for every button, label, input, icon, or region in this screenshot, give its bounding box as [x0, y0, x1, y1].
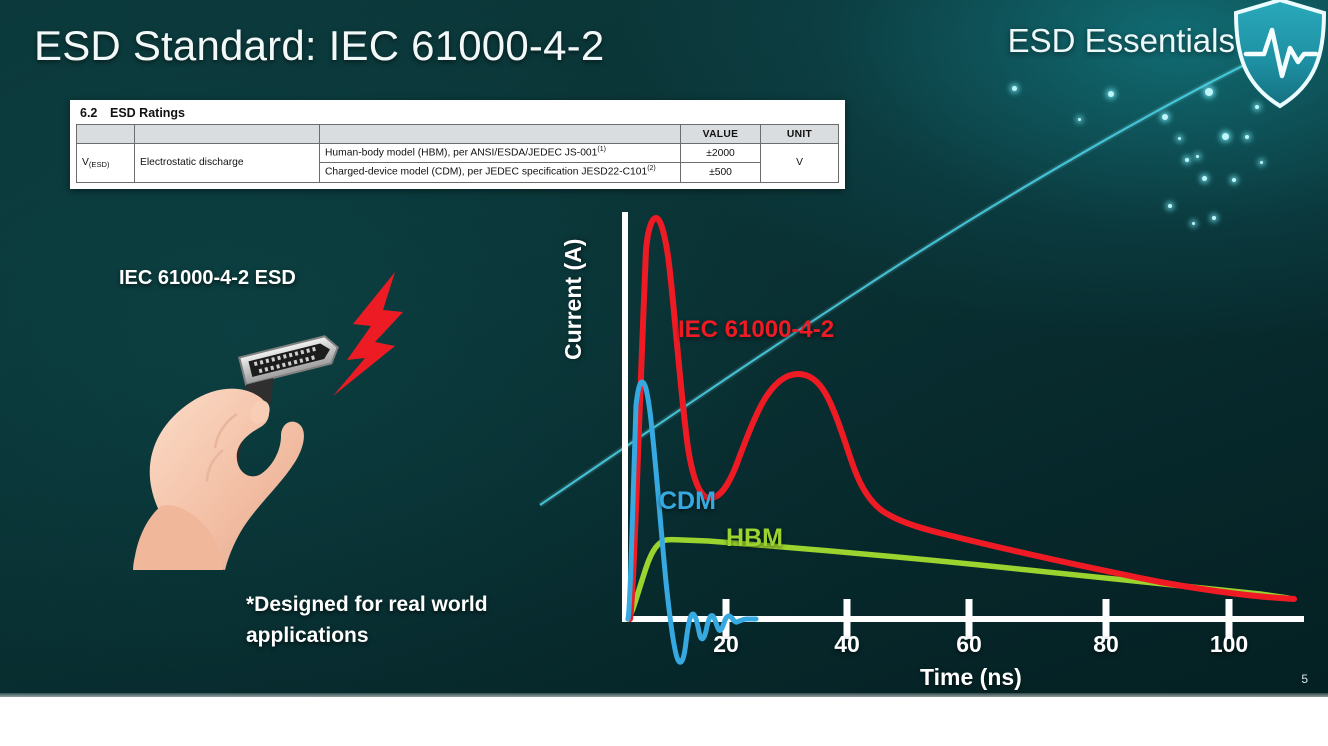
series-iec-curve	[630, 218, 1294, 619]
particle-dot	[1222, 133, 1229, 140]
page-number: 5	[1301, 672, 1308, 686]
particle-dot	[1178, 137, 1181, 140]
table-header-row: VALUE UNIT	[77, 125, 839, 144]
table-section-number: 6.2	[80, 106, 110, 120]
cell-unit: V	[761, 144, 839, 183]
essentials-badge: ESD Essentials	[1008, 22, 1235, 60]
header-blank-symbol	[77, 125, 135, 144]
x-tick-label: 40	[834, 631, 860, 658]
shield-pulse-icon	[1228, 0, 1328, 114]
table-section-heading: 6.2ESD Ratings	[76, 105, 839, 124]
x-tick-label: 100	[1210, 631, 1248, 658]
table-row: V(ESD) Electrostatic discharge Human-bod…	[77, 144, 839, 163]
x-tick-label: 60	[956, 631, 982, 658]
esd-waveform-chart	[560, 190, 1320, 697]
slide-stage: ESD Standard: IEC 61000-4-2 ESD Essentia…	[0, 0, 1328, 697]
particle-dot	[1196, 155, 1199, 158]
esd-ratings-table-card: 6.2ESD Ratings VALUE UNIT V(ESD) Electro…	[70, 100, 845, 189]
cell-value: ±2000	[681, 144, 761, 163]
header-value: VALUE	[681, 125, 761, 144]
table-section-title: ESD Ratings	[110, 106, 185, 120]
particle-dot	[1205, 88, 1213, 96]
x-tick-label: 80	[1093, 631, 1119, 658]
esd-ratings-table: VALUE UNIT V(ESD) Electrostatic discharg…	[76, 124, 839, 183]
particle-dot	[1232, 178, 1236, 182]
series-label-cdm: CDM	[659, 487, 716, 516]
cell-description: Charged-device model (CDM), per JEDEC sp…	[320, 163, 681, 182]
particle-dot	[1260, 161, 1263, 164]
page-title: ESD Standard: IEC 61000-4-2	[34, 22, 604, 70]
symbol-base: V	[82, 157, 89, 168]
cell-parameter: Electrostatic discharge	[135, 144, 320, 183]
description-text: Charged-device model (CDM), per JEDEC sp…	[325, 167, 647, 178]
footnote-marker: (1)	[597, 146, 606, 153]
header-blank-description	[320, 125, 681, 144]
particle-dot	[1245, 135, 1249, 139]
symbol-subscript: (ESD)	[89, 160, 110, 169]
particle-dot	[1108, 91, 1114, 97]
header-unit: UNIT	[761, 125, 839, 144]
slide-root: ESD Standard: IEC 61000-4-2 ESD Essentia…	[0, 0, 1328, 746]
description-text: Human-body model (HBM), per ANSI/ESDA/JE…	[325, 147, 597, 158]
cell-value: ±500	[681, 163, 761, 182]
note-text: *Designed for real world applications	[246, 589, 546, 651]
hand-illustration	[133, 389, 304, 570]
particle-dot	[1078, 118, 1081, 121]
red-lightning-bolt-icon	[333, 272, 403, 396]
slide-footer: TEXAS INSTRUMENTS	[0, 697, 1328, 746]
cell-symbol: V(ESD)	[77, 144, 135, 183]
x-tick-label: 20	[713, 631, 739, 658]
particle-dot	[1202, 176, 1207, 181]
particle-dot	[1012, 86, 1017, 91]
hand-holding-hdmi-connector-illustration	[95, 250, 435, 570]
header-blank-parameter	[135, 125, 320, 144]
particle-dot	[1162, 114, 1168, 120]
footnote-marker: (2)	[647, 165, 656, 172]
particle-dot	[1185, 158, 1189, 162]
cell-description: Human-body model (HBM), per ANSI/ESDA/JE…	[320, 144, 681, 163]
series-label-hbm: HBM	[726, 524, 783, 553]
series-label-iec: IEC 61000-4-2	[678, 316, 834, 344]
chart-axes	[622, 212, 1304, 639]
